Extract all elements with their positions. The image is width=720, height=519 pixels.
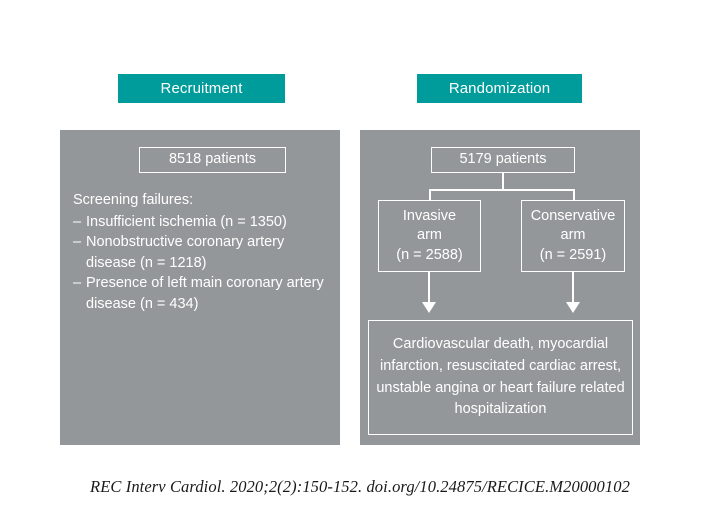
box-conservative-arm: Conservative arm (n = 2591): [521, 200, 625, 272]
screening-failure-text: Nonobstructive coronary artery disease (…: [86, 232, 333, 273]
arrowhead-conservative-to-outcomes: [566, 302, 580, 313]
panel-randomization: 5179 patients Invasive arm (n = 2588) Co…: [360, 130, 640, 445]
list-item: – Presence of left main coronary artery …: [73, 273, 333, 314]
box-total-patients-screened: 8518 patients: [139, 147, 286, 173]
arrow-invasive-to-outcomes: [428, 272, 430, 302]
invasive-arm-line2: arm: [396, 226, 463, 245]
arrow-conservative-to-outcomes: [572, 272, 574, 302]
section-header-recruitment: Recruitment: [118, 74, 285, 103]
bullet-dash: –: [73, 273, 86, 294]
bullet-dash: –: [73, 232, 86, 253]
bullet-dash: –: [73, 212, 86, 233]
box-invasive-arm: Invasive arm (n = 2588): [378, 200, 481, 272]
connector-bracket-horizontal: [429, 189, 575, 191]
conservative-arm-line1: Conservative: [531, 207, 616, 226]
list-item: – Insufficient ischemia (n = 1350): [73, 212, 333, 233]
conservative-arm-count: (n = 2591): [531, 246, 616, 265]
journal-citation: REC Interv Cardiol. 2020;2(2):150-152. d…: [0, 477, 720, 497]
trial-flow-diagram: Recruitment Randomization 8518 patients …: [0, 0, 720, 519]
box-primary-outcomes: Cardiovascular death, myocardial infarct…: [368, 320, 633, 435]
arrowhead-invasive-to-outcomes: [422, 302, 436, 313]
screening-failure-text: Presence of left main coronary artery di…: [86, 273, 333, 314]
screening-failures-block: Screening failures: – Insufficient ische…: [73, 190, 333, 314]
screening-failures-title: Screening failures:: [73, 190, 333, 211]
conservative-arm-line2: arm: [531, 226, 616, 245]
section-header-randomization: Randomization: [417, 74, 582, 103]
invasive-arm-count: (n = 2588): [396, 246, 463, 265]
box-total-patients-randomized: 5179 patients: [431, 147, 575, 173]
screening-failure-text: Insufficient ischemia (n = 1350): [86, 212, 333, 233]
list-item: – Nonobstructive coronary artery disease…: [73, 232, 333, 273]
panel-recruitment: 8518 patients Screening failures: – Insu…: [60, 130, 340, 445]
invasive-arm-line1: Invasive: [396, 207, 463, 226]
connector-stem: [502, 173, 504, 190]
